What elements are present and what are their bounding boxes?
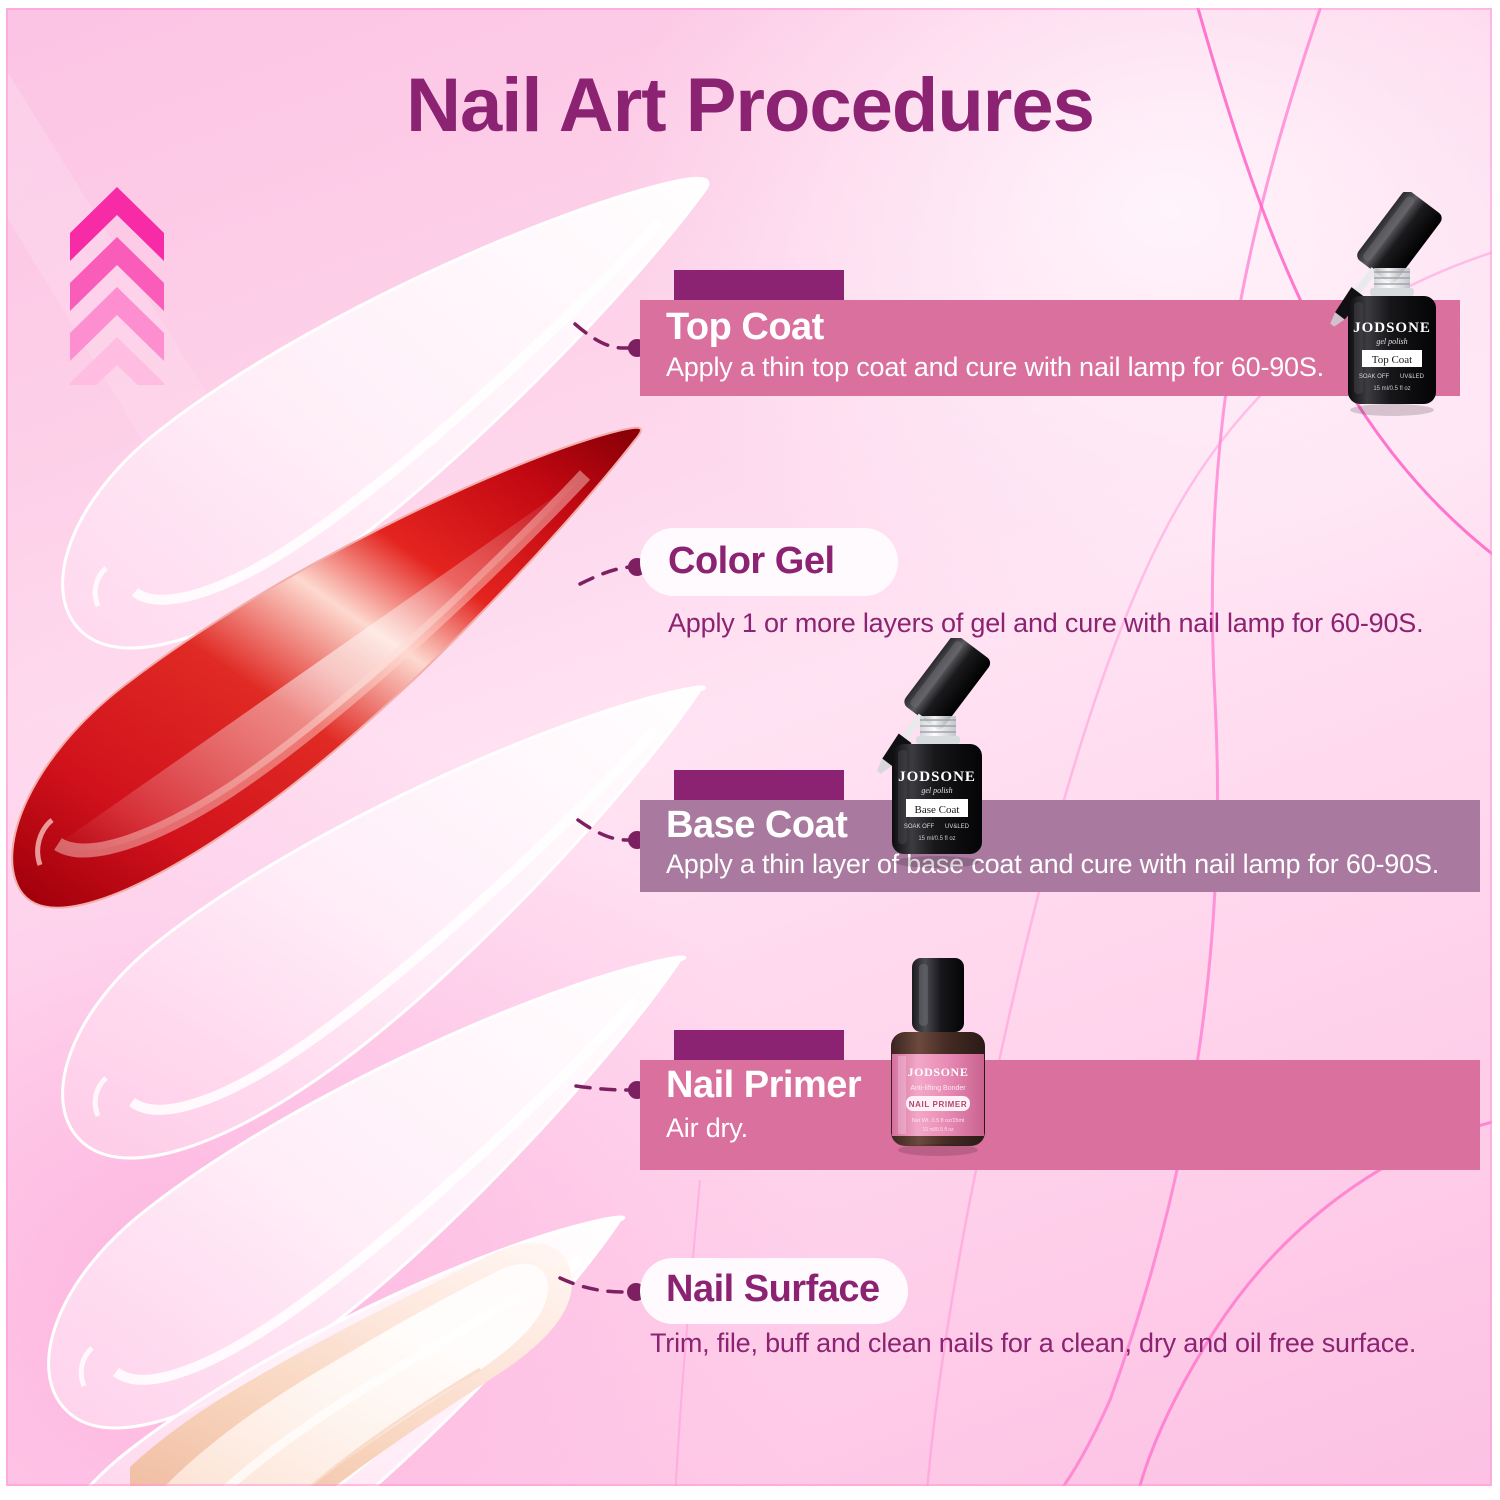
leader-base-coat xyxy=(578,820,646,849)
step-title-nail-primer: Nail Primer xyxy=(666,1064,861,1107)
step-tab-top-coat xyxy=(674,270,844,300)
step-title-top-coat: Top Coat xyxy=(666,306,824,349)
svg-text:UV&LED: UV&LED xyxy=(1400,374,1425,380)
svg-text:NAIL PRIMER: NAIL PRIMER xyxy=(909,1100,967,1109)
svg-text:gel polish: gel polish xyxy=(1376,337,1407,346)
bottle-cap xyxy=(912,958,964,1032)
frame-top xyxy=(0,0,1500,8)
step-description-nail-primer: Air dry. xyxy=(666,1113,748,1144)
svg-text:15 ml/0.5 fl oz: 15 ml/0.5 fl oz xyxy=(918,836,955,842)
frame-bottom xyxy=(0,1486,1500,1500)
frame-left xyxy=(0,0,6,1500)
bottle-base-coat: JODSONE gel polish Base Coat SOAK OFF UV… xyxy=(862,638,1010,876)
svg-text:Top Coat: Top Coat xyxy=(1372,354,1412,366)
step-description-top-coat: Apply a thin top coat and cure with nail… xyxy=(666,352,1324,383)
leader-top-coat xyxy=(575,324,646,357)
leader-nail-primer xyxy=(576,1081,646,1099)
frame-right xyxy=(1492,0,1500,1500)
svg-text:UV&LED: UV&LED xyxy=(945,824,970,830)
step-title-nail-surface: Nail Surface xyxy=(666,1268,880,1311)
bottle-nail-primer: JODSONE Anti-lifting Bonder NAIL PRIMER … xyxy=(872,950,1004,1166)
step-title-color-gel: Color Gel xyxy=(668,540,835,583)
step-title-base-coat: Base Coat xyxy=(666,804,847,847)
svg-text:SOAK OFF: SOAK OFF xyxy=(904,824,935,830)
step-tab-base-coat xyxy=(674,770,844,800)
svg-text:gel polish: gel polish xyxy=(921,786,952,795)
step-description-color-gel: Apply 1 or more layers of gel and cure w… xyxy=(668,608,1423,639)
leader-nail-surface xyxy=(560,1278,645,1301)
bottle-neck xyxy=(1370,268,1414,296)
svg-text:JODSONE: JODSONE xyxy=(1353,320,1431,336)
svg-text:15 ml/0.5 fl oz: 15 ml/0.5 fl oz xyxy=(922,1127,954,1133)
step-tab-nail-primer xyxy=(674,1030,844,1060)
svg-text:Net Wt. 0.5 fl oz/15ml: Net Wt. 0.5 fl oz/15ml xyxy=(912,1118,965,1124)
svg-text:Base Coat: Base Coat xyxy=(915,804,960,816)
bottle-top-coat: JODSONE gel polish Top Coat SOAK OFF UV&… xyxy=(1318,192,1466,422)
poster: Nail Art Procedures xyxy=(0,0,1500,1500)
step-description-nail-surface: Trim, file, buff and clean nails for a c… xyxy=(650,1328,1416,1359)
svg-text:15 ml/0.5 fl oz: 15 ml/0.5 fl oz xyxy=(1373,386,1410,392)
svg-text:JODSONE: JODSONE xyxy=(908,1065,969,1079)
leader-color-gel xyxy=(580,558,646,584)
svg-text:Anti-lifting Bonder: Anti-lifting Bonder xyxy=(910,1085,966,1092)
svg-text:JODSONE: JODSONE xyxy=(898,769,976,785)
svg-text:SOAK OFF: SOAK OFF xyxy=(1359,374,1390,380)
bottle-neck xyxy=(916,716,960,744)
step-description-base-coat: Apply a thin layer of base coat and cure… xyxy=(666,849,1439,880)
